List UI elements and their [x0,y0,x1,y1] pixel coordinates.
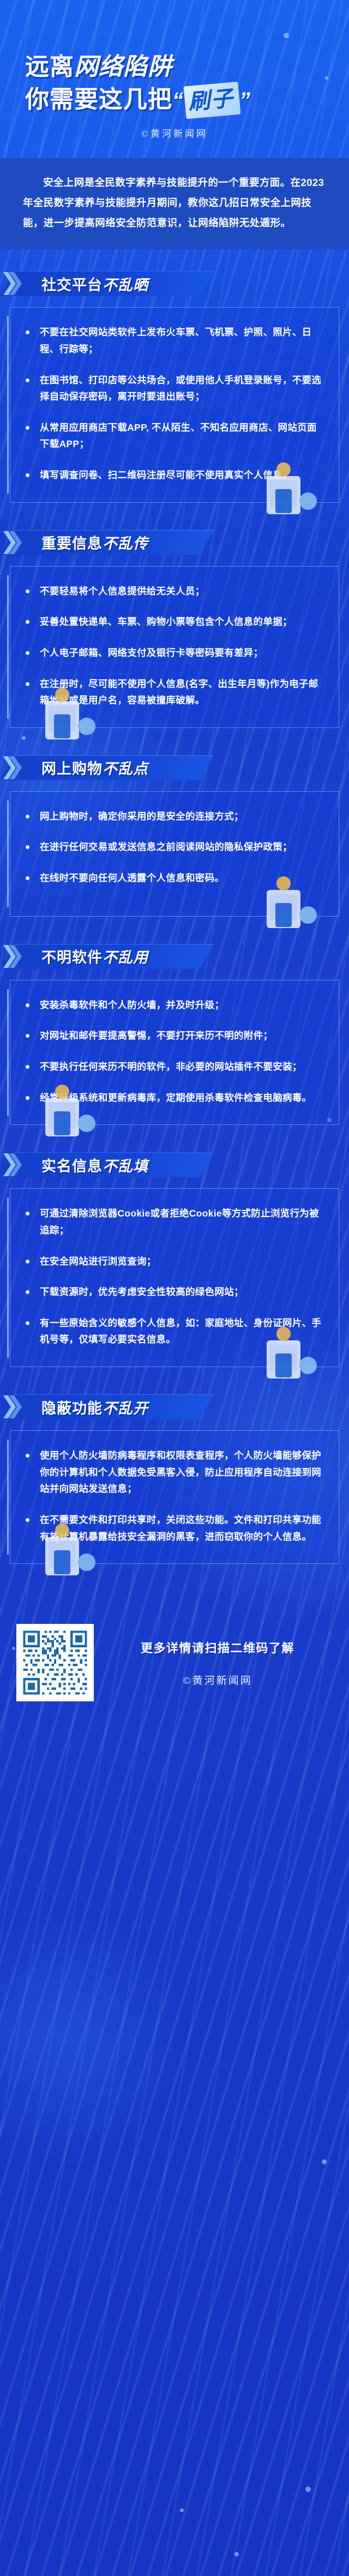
title-line1-emphasis: 网络陷阱 [74,53,172,80]
dot-decoration [234,2552,239,2556]
section-title-plain: 实名信息 [41,1158,103,1175]
list-item: 在图书馆、打印店等公共场合，或使用他人手机登录账号，不要选择自动保存密码，离开时… [21,372,324,405]
section-header: 实名信息不乱填 [0,1149,349,1181]
bullet-list: 安装杀毒软件和个人防火墙，并及时升级；对网址和邮件要提高警惕，不要打开来历不明的… [21,997,324,1106]
infographic-poster: 远离网络陷阱 你需要这几把“刷子” ©黄河新闻网 安全上网是全民数字素养与技能提… [0,0,349,2576]
section-online-shopping: 网上购物不乱点网上购物时，确定你采用的是安全的连接方式；在进行任何交易或发送信息… [0,752,349,922]
section-title: 重要信息不乱传 [0,532,148,553]
list-item: 在注册时，尽可能不使用个人信息(名字、出生年月等)作为电子邮箱地址或是用户名，容… [21,676,324,709]
section-body: 安装杀毒软件和个人防火墙，并及时升级；对网址和邮件要提高警惕，不要打开来历不明的… [10,980,339,1126]
section-title-emphasis: 不乱用 [103,949,148,966]
section-title-plain: 社交平台 [41,277,103,293]
bullet-list: 网上购物时，确定你采用的是安全的连接方式；在进行任何交易或发送信息之前阅读网站的… [21,808,324,887]
section-body: 使用个人防火墙防病毒程序和权限表查程序，个人防火墙能够保护你的计算机和个人数据免… [10,1430,339,1564]
glow-decoration-bottom [0,1909,196,2170]
dot-decoration [180,2508,184,2512]
section-header: 重要信息不乱传 [0,527,349,558]
section-title: 不明软件不乱用 [0,946,148,967]
list-item: 有一些原始含义的敏感个人信息，如：家庭地址、身份证网片、手机号等，仅填写必要实名… [21,1315,324,1348]
list-item: 使用个人防火墙防病毒程序和权限表查程序，个人防火墙能够保护你的计算机和个人数据免… [21,1447,324,1497]
section-social-platform: 社交平台不乱晒不要在社交网站类软件上发布火车票、飞机票、护照、照片、日程、行踪等… [0,268,349,508]
section-title-emphasis: 不乱传 [103,535,148,552]
quote-close-mark: ” [239,88,251,112]
section-header: 隐蔽功能不乱开 [0,1391,349,1423]
section-header: 网上购物不乱点 [0,752,349,784]
bullet-list: 不要轻易将个人信息提供给无关人员；妥善处置快递单、车票、购物小票等包含个人信息的… [21,583,324,709]
section-title-plain: 隐蔽功能 [41,1400,103,1417]
section-body: 不要在社交网站类软件上发布火车票、飞机票、护照、照片、日程、行踪等；在图书馆、打… [10,307,339,502]
section-body: 不要轻易将个人信息提供给无关人员；妥善处置快递单、车票、购物小票等包含个人信息的… [10,566,339,728]
qr-code-icon[interactable] [16,1624,94,1701]
list-item: 不要轻易将个人信息提供给无关人员； [21,583,324,600]
quote-open-mark: “ [172,88,184,112]
section-title-emphasis: 不乱晒 [103,277,148,293]
header-source-credit: ©黄河新闻网 [0,126,349,140]
list-item: 不要在社交网站类软件上发布火车票、飞机票、护照、照片、日程、行踪等； [21,324,324,357]
footer-cta-text: 更多详情请扫描二维码了解 [112,1639,323,1656]
section-title-emphasis: 不乱开 [103,1400,148,1417]
list-item: 个人电子邮箱、网络支付及银行卡等密码要有差异； [21,645,324,661]
section-title: 社交平台不乱晒 [0,273,148,294]
list-item: 在不需要文件和打印共享时，关闭这些功能。文件和打印共享功能有将计算机暴露给技安全… [21,1512,324,1545]
poster-header: 远离网络陷阱 你需要这几把“刷子” ©黄河新闻网 [0,0,349,140]
list-item: 填写调查问卷、扫二维码注册尽可能不使用真实个人信息。 [21,467,324,484]
section-title: 实名信息不乱填 [0,1154,148,1176]
list-item: 下载资源时，优先考虑安全性较高的绿色网站； [21,1284,324,1301]
section-unknown-software: 不明软件不乱用安装杀毒软件和个人防火墙，并及时升级；对网址和邮件要提高警惕，不要… [0,941,349,1131]
title-block: 远离网络陷阱 你需要这几把“刷子” [0,52,349,116]
dot-decoration [305,2487,311,2492]
sections-container: 社交平台不乱晒不要在社交网站类软件上发布火车票、飞机票、护照、照片、日程、行踪等… [0,268,349,1569]
list-item: 可通过清除浏览器Cookie或者拒绝Cookie等方式防止浏览行为被追踪； [21,1205,324,1238]
intro-panel: 安全上网是全民数字素养与技能提升的一个重要方面。在2023年全民数字素养与技能提… [0,158,349,249]
title-line1-plain: 远离 [25,53,74,80]
section-title-plain: 重要信息 [41,535,103,552]
section-title-emphasis: 不乱填 [103,1158,148,1175]
section-title: 隐蔽功能不乱开 [0,1397,148,1418]
list-item: 对网址和邮件要提高警惕，不要打开来历不明的附件； [21,1027,324,1044]
section-header: 社交平台不乱晒 [0,268,349,299]
footer-source-credit: ©黄河新闻网 [112,1672,323,1687]
list-item: 从常用应用商店下载APP, 不从陌生、不知名应用商店、网站页面下载APP； [21,419,324,453]
section-title: 网上购物不乱点 [0,757,148,778]
title-line-2: 你需要这几把“刷子” [25,84,349,117]
section-important-info: 重要信息不乱传不要轻易将个人信息提供给无关人员；妥善处置快递单、车票、购物小票等… [0,527,349,733]
section-hidden-features: 隐蔽功能不乱开使用个人防火墙防病毒程序和权限表查程序，个人防火墙能够保护你的计算… [0,1391,349,1569]
footer-text-block: 更多详情请扫描二维码了解 ©黄河新闻网 [112,1639,333,1687]
list-item: 在进行任何交易或发送信息之前阅读网站的隐私保护政策； [21,839,324,856]
bullet-list: 使用个人防火墙防病毒程序和权限表查程序，个人防火墙能够保护你的计算机和个人数据免… [21,1447,324,1545]
list-item: 网上购物时，确定你采用的是安全的连接方式； [21,808,324,825]
bullet-list: 可通过清除浏览器Cookie或者拒绝Cookie等方式防止浏览行为被追踪；在安全… [21,1205,324,1348]
list-item: 安装杀毒软件和个人防火墙，并及时升级； [21,997,324,1014]
section-title-emphasis: 不乱点 [103,761,148,777]
brush-word: 刷子 [187,86,235,114]
section-title-plain: 不明软件 [41,949,103,966]
section-header: 不明软件不乱用 [0,941,349,972]
dot-decoration [322,2159,327,2164]
poster-footer: 更多详情请扫描二维码了解 ©黄河新闻网 [0,1602,349,1726]
list-item: 经常升级系统和更新病毒库，定期使用杀毒软件检查电脑病毒。 [21,1090,324,1106]
list-item: 不要执行任何来历不明的软件，非必要的网站插件不要安装； [21,1058,324,1075]
list-item: 在安全网站进行浏览查询； [21,1253,324,1270]
brush-highlight-box: 刷子 [184,81,241,118]
section-real-name-info: 实名信息不乱填可通过清除浏览器Cookie或者拒绝Cookie等方式防止浏览行为… [0,1149,349,1373]
bullet-list: 不要在社交网站类软件上发布火车票、飞机票、护照、照片、日程、行踪等；在图书馆、打… [21,324,324,483]
list-item: 妥善处置快递单、车票、购物小票等包含个人信息的单据； [21,613,324,630]
section-title-plain: 网上购物 [41,761,103,777]
list-item: 在线时不要向任何人透露个人信息和密码。 [21,870,324,887]
section-body: 网上购物时，确定你采用的是安全的连接方式；在进行任何交易或发送信息之前阅读网站的… [10,791,339,917]
section-body: 可通过清除浏览器Cookie或者拒绝Cookie等方式防止浏览行为被追踪；在安全… [10,1188,339,1367]
title-line2-plain: 你需要这几把 [25,86,172,113]
intro-text: 安全上网是全民数字素养与技能提升的一个重要方面。在2023年全民数字素养与技能提… [23,172,326,233]
title-line-1: 远离网络陷阱 [25,52,349,82]
